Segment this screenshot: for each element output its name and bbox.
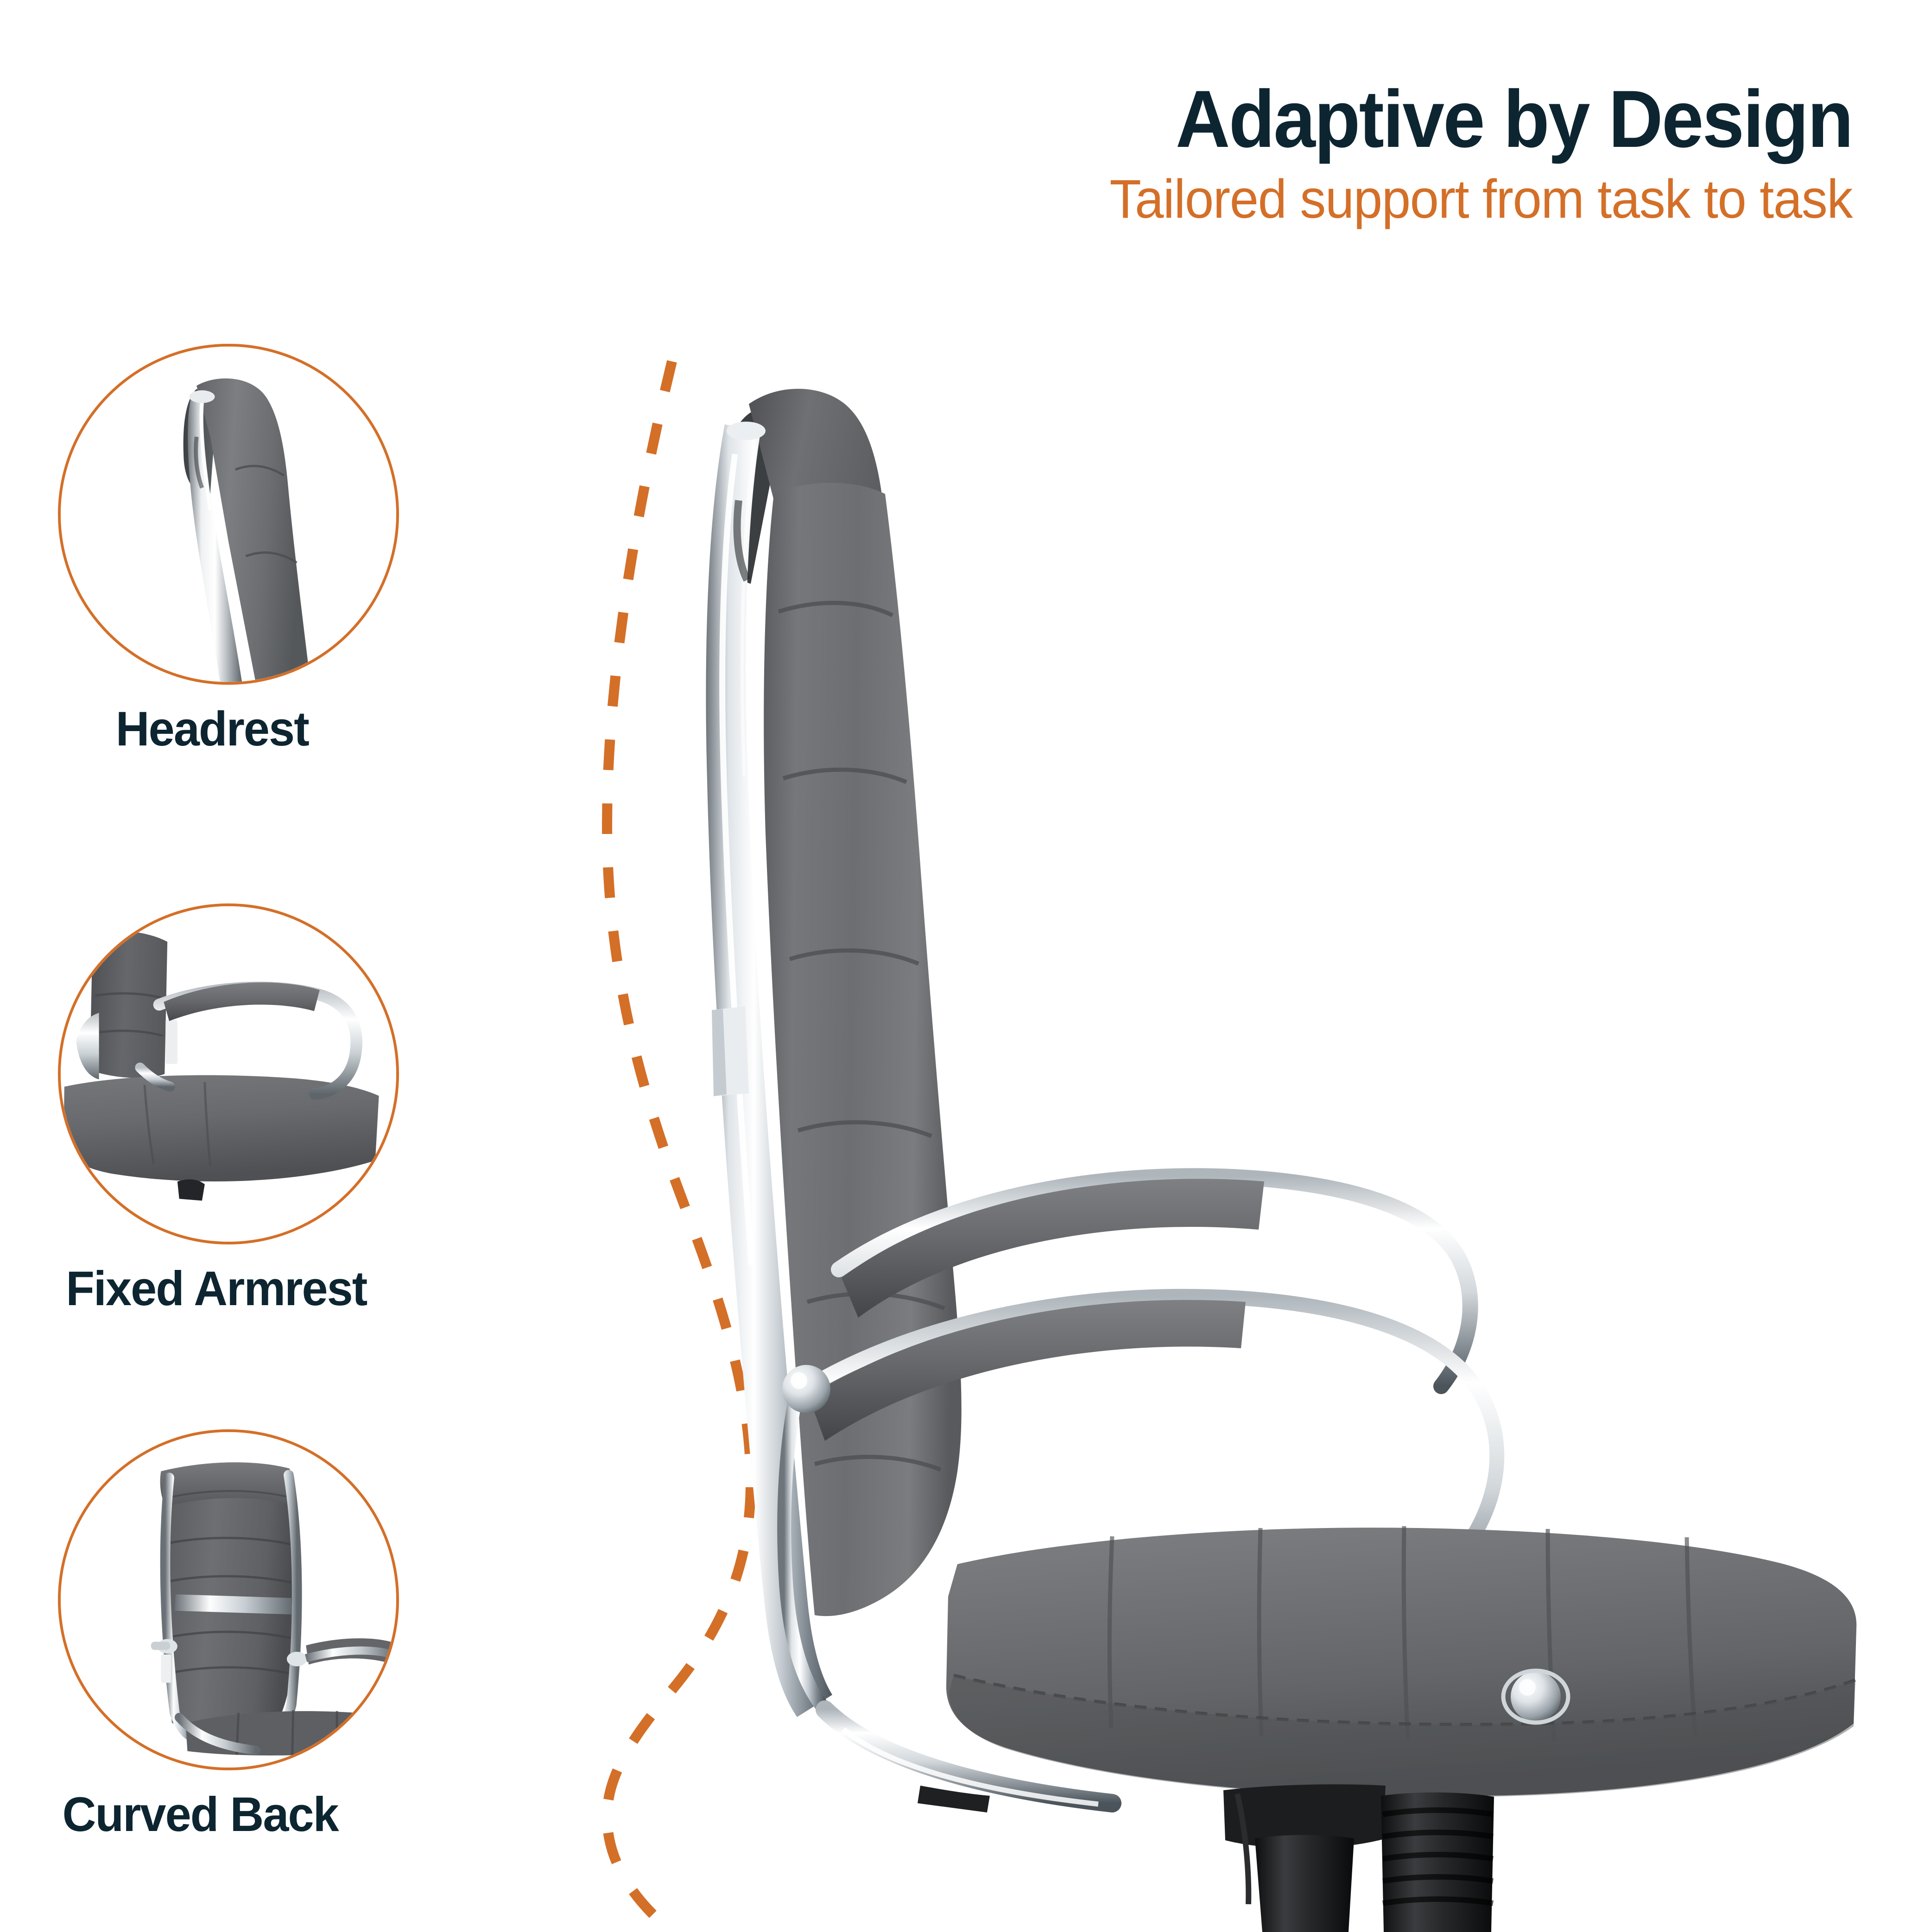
callout-ring-headrest <box>58 344 399 685</box>
hero-product-stage <box>454 361 1931 1932</box>
feature-callout-fixed-armrest[interactable]: Fixed Armrest <box>58 903 401 1317</box>
knob-highlight <box>791 1372 807 1389</box>
chrome-pivot-knob <box>782 1365 830 1413</box>
callout-label-curved-back: Curved Back <box>58 1787 387 1843</box>
callout-ring-fixed-armrest <box>58 903 399 1244</box>
seat-group <box>825 1526 1856 1812</box>
gas-lift-cylinder <box>1255 1835 1354 1932</box>
knob-highlight <box>1519 1679 1536 1696</box>
callout-label-fixed-armrest: Fixed Armrest <box>58 1261 387 1317</box>
infographic-canvas: Adaptive by Design Tailored support from… <box>0 0 1931 1931</box>
seat-seam <box>1259 1528 1261 1736</box>
chrome-top-cap <box>727 422 766 440</box>
feature-callout-list: Headrest <box>0 0 454 1931</box>
headrest-closeup-photo <box>60 346 397 683</box>
callout-ring-curved-back <box>58 1429 399 1770</box>
feature-callout-headrest[interactable]: Headrest <box>58 344 401 757</box>
seat-pivot-knob <box>1511 1672 1561 1722</box>
backrest-group <box>706 389 961 1717</box>
callout-label-headrest: Headrest <box>58 701 387 757</box>
feature-callout-curved-back[interactable]: Curved Back <box>58 1429 401 1843</box>
armrest-closeup-photo <box>60 905 397 1243</box>
base-group <box>1223 1784 1494 1932</box>
curved-back-closeup-photo <box>60 1431 397 1768</box>
